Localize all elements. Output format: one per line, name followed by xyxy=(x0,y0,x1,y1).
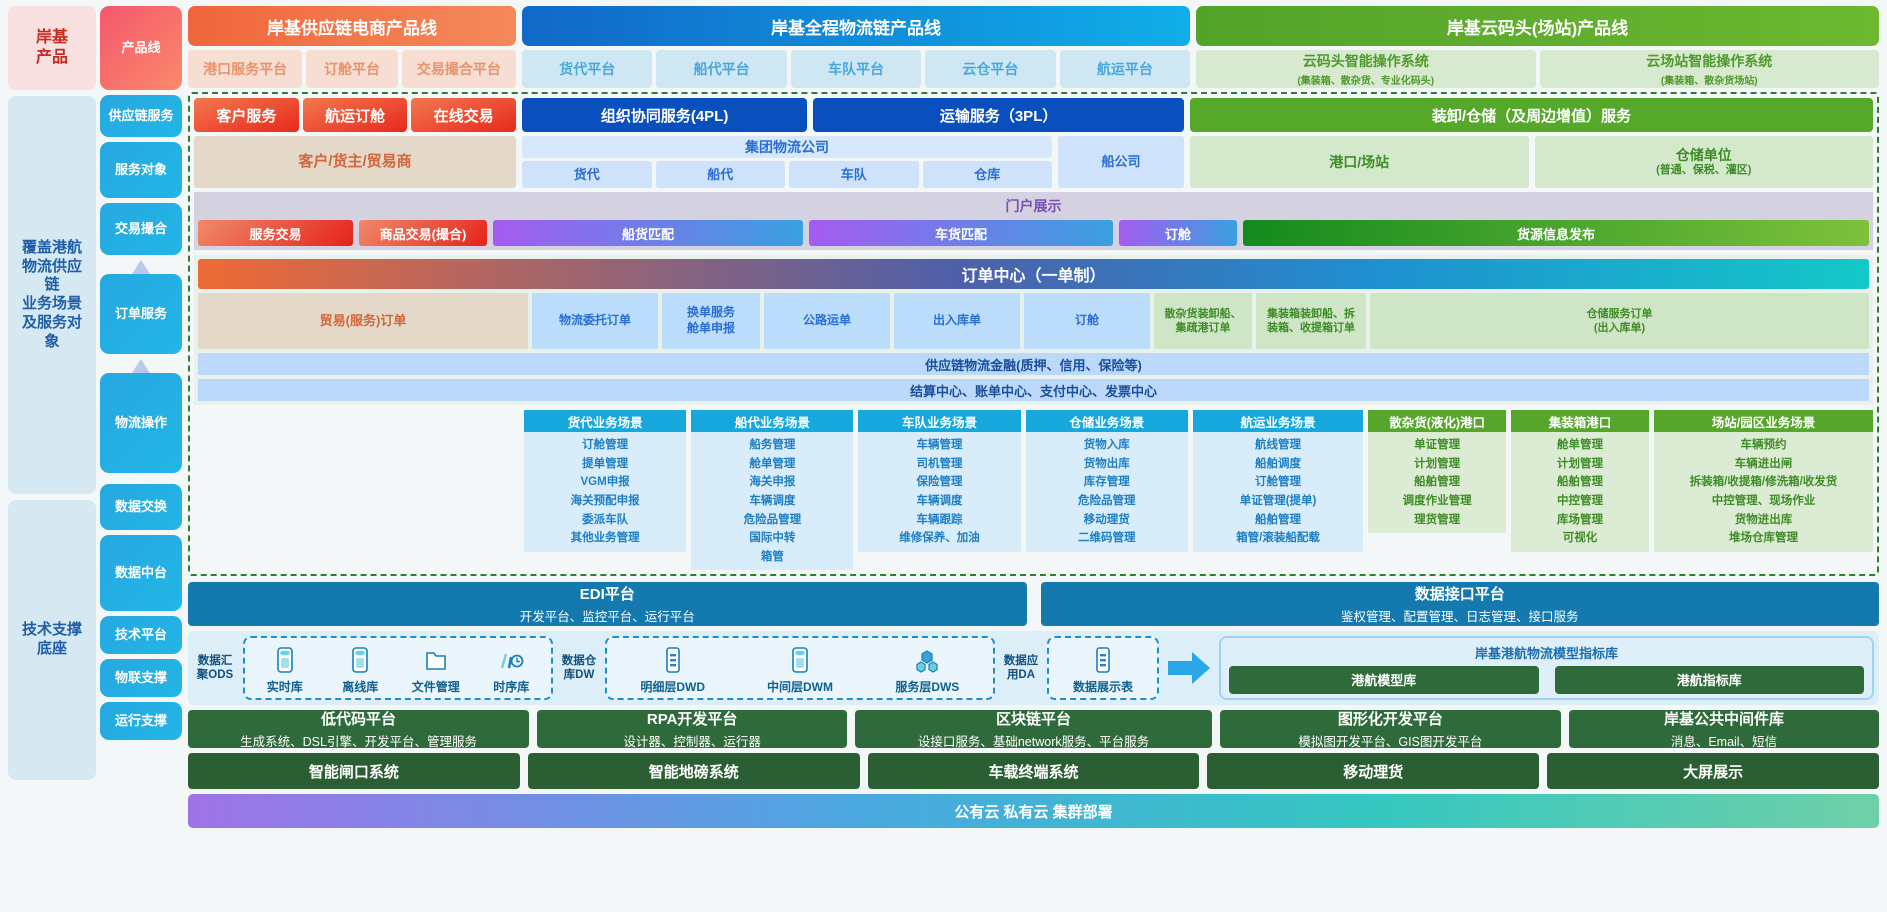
scenario-item: 船舶调度 xyxy=(1195,455,1361,474)
scenario-item: 单证管理 xyxy=(1370,436,1504,455)
platform-freight[interactable]: 货代平台 xyxy=(522,50,652,88)
supply-chain-service-row: 客户服务 航运订舱 在线交易 组织协同服务(4PL) 运输服务（3PL） 装卸/… xyxy=(194,98,1873,132)
platform-sub: 模拟图开发平台、GIS图开发平台 xyxy=(1298,731,1482,750)
label-text: 物流操作 xyxy=(115,415,167,431)
scenario-item: 单证管理(提单) xyxy=(1195,492,1361,511)
scenario-item: 移动理货 xyxy=(1028,511,1186,530)
platform-sub: 生成系统、DSL引擎、开发平台、管理服务 xyxy=(240,731,477,750)
scenario-item: 理货管理 xyxy=(1370,511,1504,530)
scenario-item: 船舶管理 xyxy=(1195,511,1361,530)
scenario-items: 舱单管理 计划管理 船舶管理 中控管理 库场管理 可视化 xyxy=(1511,432,1649,552)
label-text: 运行支撑 xyxy=(115,713,167,729)
scenario-container-port[interactable]: 集装箱港口 舱单管理 计划管理 船舶管理 中控管理 库场管理 可视化 xyxy=(1511,410,1649,570)
api-title: 数据接口平台 xyxy=(1415,583,1505,604)
label-text: 供应链服务 xyxy=(108,108,173,124)
label-text: 技术平台 xyxy=(115,627,167,643)
scenario-item: 车辆预约 xyxy=(1656,436,1871,455)
scenario-row: 货代业务场景 订舱管理 提单管理 VGM申报 海关预配申报 委派车队 其他业务管… xyxy=(194,410,1873,570)
spine-tech-label: 技术支撑 底座 xyxy=(8,500,96,780)
order-center-region: 订单中心（一单制） 贸易(服务)订单 物流委托订单 换单服务 舱单申报 公路运单… xyxy=(194,255,1873,405)
spine-coverage-label: 覆盖港航 物流供应 链 业务场景 及服务对 象 xyxy=(8,96,96,494)
api-platform[interactable]: 数据接口平台 鉴权管理、配置管理、日志管理、接口服务 xyxy=(1041,582,1880,626)
ods-label: 数据汇聚ODS xyxy=(193,636,237,700)
label-trade-matching: 交易撮合 xyxy=(100,203,182,255)
da-group: 数据展示表 xyxy=(1047,636,1159,700)
scenario-item: 调度作业管理 xyxy=(1370,492,1504,511)
scenario-item: 货物出库 xyxy=(1028,455,1186,474)
scenario-item: 海关申报 xyxy=(693,473,851,492)
system-cloud-terminal-sub: (集装箱、散杂货、专业化码头) xyxy=(1297,72,1434,87)
scenario-item: 车辆进出闸 xyxy=(1656,455,1871,474)
system-cloud-yard[interactable]: 云场站智能操作系统 (集装箱、散杂货场站) xyxy=(1540,50,1880,88)
label-text: 订单服务 xyxy=(115,306,167,322)
scenario-item: 货物入库 xyxy=(1028,436,1186,455)
edi-sub: 开发平台、监控平台、运行平台 xyxy=(520,606,695,625)
platform-title: RPA开发平台 xyxy=(647,708,738,729)
order-cell-row: 贸易(服务)订单 物流委托订单 换单服务 舱单申报 公路运单 出入库单 订舱 散… xyxy=(198,293,1869,349)
spine-product-text: 岸基 产品 xyxy=(36,28,68,68)
trade-truck-cargo-match-button[interactable]: 车货匹配 xyxy=(809,220,1113,246)
flow-arrow-icon xyxy=(132,260,150,274)
label-data-exchange: 数据交换 xyxy=(100,484,182,530)
scenario-item: VGM申报 xyxy=(526,473,684,492)
order-logistics-entrust: 物流委托订单 xyxy=(532,293,658,349)
order-road-waybill: 公路运单 xyxy=(764,293,890,349)
dw-service-layer[interactable]: 服务层DWS xyxy=(865,641,990,695)
spine-product-label: 岸基 产品 xyxy=(8,6,96,90)
service-4pl[interactable]: 组织协同服务(4PL) xyxy=(522,98,807,132)
scenario-item: 计划管理 xyxy=(1370,455,1504,474)
label-text: 产品线 xyxy=(121,40,160,56)
scenario-item: 船舶管理 xyxy=(1370,473,1504,492)
label-text: 服务对象 xyxy=(115,162,167,178)
scenario-item: 维修保养、加油 xyxy=(860,529,1018,548)
platform-title: 低代码平台 xyxy=(321,708,396,729)
index-library-button[interactable]: 港航指标库 xyxy=(1555,666,1865,694)
label-supply-chain-service: 供应链服务 xyxy=(100,95,182,137)
platform-booking[interactable]: 订舱平台 xyxy=(306,50,397,88)
label-text: 物联支撑 xyxy=(115,670,167,686)
platform-sub: 消息、Email、短信 xyxy=(1671,731,1777,750)
trade-cargo-info-publish-button[interactable]: 货源信息发布 xyxy=(1243,220,1869,246)
tech-platform-row: 低代码平台 生成系统、DSL引擎、开发平台、管理服务 RPA开发平台 设计器、控… xyxy=(188,710,1879,748)
label-tech-platform: 技术平台 xyxy=(100,616,182,654)
object-ship-agent: 船代 xyxy=(656,161,786,188)
ods-file-management[interactable]: 文件管理 xyxy=(399,641,473,695)
dw-label: 数据仓库DW xyxy=(559,636,599,700)
scenario-item: 航线管理 xyxy=(1195,436,1361,455)
ods-realtime-db[interactable]: 实时库 xyxy=(248,641,322,695)
platform-cloud-warehouse[interactable]: 云仓平台 xyxy=(925,50,1055,88)
scenario-item: 订舱管理 xyxy=(526,436,684,455)
order-center-title: 订单中心（一单制） xyxy=(198,259,1869,289)
middleware-platform[interactable]: 岸基公共中间件库 消息、Email、短信 xyxy=(1569,710,1879,748)
left-spine: 岸基 产品 覆盖港航 物流供应 链 业务场景 及服务对 象 技术支撑 底座 xyxy=(8,6,96,780)
business-scope-region: 客户服务 航运订舱 在线交易 组织协同服务(4PL) 运输服务（3PL） 装卸/… xyxy=(188,92,1879,576)
scenario-item: 中控管理 xyxy=(1513,492,1647,511)
label-text: 数据中台 xyxy=(115,565,167,581)
platform-ship-agent[interactable]: 船代平台 xyxy=(656,50,786,88)
object-warehouse: 仓库 xyxy=(923,161,1053,188)
spine-coverage-text: 覆盖港航 物流供应 链 业务场景 及服务对 象 xyxy=(22,239,82,352)
order-storage-service: 仓储服务订单 (出入库单) xyxy=(1370,293,1869,349)
service-handling-storage[interactable]: 装卸/仓储（及周边增值）服务 xyxy=(1190,98,1873,132)
iot-smart-gate[interactable]: 智能闸口系统 xyxy=(188,753,520,789)
product-line-logistics-title[interactable]: 岸基全程物流链产品线 xyxy=(522,6,1190,46)
settlement-center-band: 结算中心、账单中心、支付中心、发票中心 xyxy=(198,379,1869,401)
list-icon xyxy=(1093,646,1113,674)
scenario-shipping-agent[interactable]: 船代业务场景 船务管理 舱单管理 海关申报 车辆调度 危险品管理 国际中转 箱管 xyxy=(691,410,853,570)
rpa-platform[interactable]: RPA开发平台 设计器、控制器、运行器 xyxy=(537,710,847,748)
scenario-item: 海关预配申报 xyxy=(526,492,684,511)
dw-detail-layer[interactable]: 明细层DWD xyxy=(610,641,735,695)
service-customer[interactable]: 客户服务 xyxy=(194,98,299,132)
scenario-item: 箱管/滚装船配载 xyxy=(1195,529,1361,548)
model-library-title: 岸基港航物流模型指标库 xyxy=(1475,643,1618,662)
flow-arrow-icon xyxy=(132,359,150,373)
da-data-display-table[interactable]: 数据展示表 xyxy=(1052,641,1154,695)
cubes-icon xyxy=(914,648,940,674)
folder-icon xyxy=(424,648,448,674)
trade-booking-button[interactable]: 订舱 xyxy=(1119,220,1237,246)
dw-middle-layer[interactable]: 中间层DWM xyxy=(737,641,862,695)
scenario-shipping[interactable]: 航运业务场景 航线管理 船舶调度 订舱管理 单证管理(提单) 船舶管理 箱管/滚… xyxy=(1193,410,1363,570)
edi-title: EDI平台 xyxy=(580,583,635,604)
scenario-item: 车辆跟踪 xyxy=(860,511,1018,530)
api-sub: 鉴权管理、配置管理、日志管理、接口服务 xyxy=(1341,606,1579,625)
scenario-item: 危险品管理 xyxy=(693,511,851,530)
timeseries-icon xyxy=(498,648,524,674)
scenario-item: 中控管理、现场作业 xyxy=(1656,492,1871,511)
scenario-warehouse[interactable]: 仓储业务场景 货物入库 货物出库 库存管理 危险品管理 移动理货 二维码管理 xyxy=(1026,410,1188,570)
iot-row: 智能闸口系统 智能地磅系统 车载终端系统 移动理货 大屏展示 xyxy=(188,753,1879,789)
product-line-headers: 岸基供应链电商产品线 港口服务平台 订舱平台 交易撮合平台 岸基全程物流链产品线… xyxy=(188,6,1879,88)
object-fleet: 车队 xyxy=(789,161,919,188)
order-bulk-cargo: 散杂货装卸船、 集疏港订单 xyxy=(1154,293,1252,349)
scenario-item: 可视化 xyxy=(1513,529,1647,548)
scenario-item: 订舱管理 xyxy=(1195,473,1361,492)
edi-platform[interactable]: EDI平台 开发平台、监控平台、运行平台 xyxy=(188,582,1027,626)
database-icon xyxy=(275,646,295,674)
ods-timeseries-db[interactable]: 时序库 xyxy=(475,641,549,695)
label-logistics-operation: 物流操作 xyxy=(100,373,182,473)
iot-smart-scale[interactable]: 智能地磅系统 xyxy=(528,753,860,789)
trade-goods-button[interactable]: 商品交易(撮合) xyxy=(359,220,487,246)
service-object-row: 客户/货主/贸易商 集团物流公司 货代 船代 车队 仓库 xyxy=(194,136,1873,188)
scenario-items: 订舱管理 提单管理 VGM申报 海关预配申报 委派车队 其他业务管理 xyxy=(524,432,686,552)
portal-display-label: 门户展示 xyxy=(198,195,1869,217)
object-storage-unit-sub: (普通、保税、灌区) xyxy=(1656,164,1751,177)
runtime-deployment-bar: 公有云 私有云 集群部署 xyxy=(188,794,1879,828)
scenario-item: 堆场仓库管理 xyxy=(1656,529,1871,548)
label-text: 数据交换 xyxy=(115,499,167,515)
ods-offline-db[interactable]: 离线库 xyxy=(324,641,398,695)
platform-title: 岸基公共中间件库 xyxy=(1664,708,1784,729)
scenario-item: 舱单管理 xyxy=(693,455,851,474)
platform-shipping[interactable]: 航运平台 xyxy=(1060,50,1190,88)
blockchain-platform[interactable]: 区块链平台 设接口服务、基础network服务、平台服务 xyxy=(855,710,1212,748)
order-exchange-manifest: 换单服务 舱单申报 xyxy=(662,293,760,349)
scenario-item: 二维码管理 xyxy=(1028,529,1186,548)
scenario-item: 车辆调度 xyxy=(693,492,851,511)
scenario-title: 货代业务场景 xyxy=(524,410,686,432)
platform-trade-matching[interactable]: 交易撮合平台 xyxy=(402,50,516,88)
product-line-terminal-title[interactable]: 岸基云码头(场站)产品线 xyxy=(1196,6,1879,46)
arrow-right-icon xyxy=(1168,651,1210,685)
scenario-item: 国际中转 xyxy=(693,529,851,548)
scenario-title: 集装箱港口 xyxy=(1511,410,1649,432)
scenario-item: 委派车队 xyxy=(526,511,684,530)
scenario-item: 提单管理 xyxy=(526,455,684,474)
scenario-title: 场站/园区业务场景 xyxy=(1654,410,1873,432)
scenario-item: 危险品管理 xyxy=(1028,492,1186,511)
scenario-bulk-port[interactable]: 散杂货(液化)港口 单证管理 计划管理 船舶管理 调度作业管理 理货管理 xyxy=(1368,410,1506,570)
data-middle-platform: 数据汇聚ODS 实时库 离线库 xyxy=(188,631,1879,705)
label-runtime-support: 运行支撑 xyxy=(100,702,182,740)
scenario-item: 船务管理 xyxy=(693,436,851,455)
scenario-item: 司机管理 xyxy=(860,455,1018,474)
platform-sub: 设计器、控制器、运行器 xyxy=(623,731,761,750)
order-trade-service: 贸易(服务)订单 xyxy=(198,293,528,349)
trade-button-row: 服务交易 商品交易(撮合) 船货匹配 车货匹配 订舱 货源信息发布 xyxy=(198,220,1869,246)
iot-vehicle-terminal[interactable]: 车载终端系统 xyxy=(868,753,1200,789)
gis-platform[interactable]: 图形化开发平台 模拟图开发平台、GIS图开发平台 xyxy=(1220,710,1561,748)
iot-large-screen[interactable]: 大屏展示 xyxy=(1547,753,1879,789)
lowcode-platform[interactable]: 低代码平台 生成系统、DSL引擎、开发平台、管理服务 xyxy=(188,710,529,748)
order-inout-warehouse: 出入库单 xyxy=(894,293,1020,349)
scenario-item: 计划管理 xyxy=(1513,455,1647,474)
platform-port-service[interactable]: 港口服务平台 xyxy=(188,50,302,88)
service-3pl[interactable]: 运输服务（3PL） xyxy=(813,98,1184,132)
scenario-item: 舱单管理 xyxy=(1513,436,1647,455)
scenario-items: 车辆管理 司机管理 保险管理 车辆调度 车辆跟踪 维修保养、加油 xyxy=(858,432,1020,552)
system-cloud-yard-sub: (集装箱、散杂货场站) xyxy=(1661,72,1758,87)
scenario-item: 库场管理 xyxy=(1513,511,1647,530)
scenario-items: 船务管理 舱单管理 海关申报 车辆调度 危险品管理 国际中转 箱管 xyxy=(691,432,853,570)
scenario-item: 其他业务管理 xyxy=(526,529,684,548)
object-storage-unit: 仓储单位 (普通、保税、灌区) xyxy=(1535,136,1874,188)
product-line-ecommerce-title[interactable]: 岸基供应链电商产品线 xyxy=(188,6,516,46)
scenario-item: 船舶管理 xyxy=(1513,473,1647,492)
scenario-title: 散杂货(液化)港口 xyxy=(1368,410,1506,432)
scenario-title: 仓储业务场景 xyxy=(1026,410,1188,432)
object-port-yard: 港口/场站 xyxy=(1190,136,1529,188)
object-customer-shipper-trader: 客户/货主/贸易商 xyxy=(194,136,516,188)
scenario-item: 车辆调度 xyxy=(860,492,1018,511)
platform-fleet[interactable]: 车队平台 xyxy=(791,50,921,88)
scenario-item: 库存管理 xyxy=(1028,473,1186,492)
scenario-item: 保险管理 xyxy=(860,473,1018,492)
supply-chain-finance-band: 供应链物流金融(质押、信用、保险等) xyxy=(198,353,1869,375)
ods-group: 实时库 离线库 文件管理 xyxy=(243,636,553,700)
iot-mobile-tally[interactable]: 移动理货 xyxy=(1207,753,1539,789)
label-text: 交易撮合 xyxy=(115,221,167,237)
scenario-item: 货物进出库 xyxy=(1656,511,1871,530)
label-data-middle: 数据中台 xyxy=(100,535,182,611)
scenario-items: 货物入库 货物出库 库存管理 危险品管理 移动理货 二维码管理 xyxy=(1026,432,1188,552)
system-cloud-terminal[interactable]: 云码头智能操作系统 (集装箱、散杂货、专业化码头) xyxy=(1196,50,1536,88)
service-online-trade[interactable]: 在线交易 xyxy=(411,98,516,132)
dw-group: 明细层DWD 中间层DWM 服务层DWS xyxy=(605,636,995,700)
spine-tech-text: 技术支撑 底座 xyxy=(22,621,82,659)
trade-ship-cargo-match-button[interactable]: 船货匹配 xyxy=(493,220,803,246)
service-shipping-booking[interactable]: 航运订舱 xyxy=(303,98,408,132)
order-container: 集装箱装卸船、拆 装箱、收提箱订单 xyxy=(1256,293,1366,349)
da-label: 数据应用DA xyxy=(1001,636,1041,700)
label-product-line: 产品线 xyxy=(100,6,182,90)
object-freight-forwarder: 货代 xyxy=(522,161,652,188)
scenario-title: 车队业务场景 xyxy=(858,410,1020,432)
model-library-button[interactable]: 港航模型库 xyxy=(1229,666,1539,694)
platform-sub: 设接口服务、基础network服务、平台服务 xyxy=(918,731,1149,750)
scenario-item: 车辆管理 xyxy=(860,436,1018,455)
label-service-object: 服务对象 xyxy=(100,142,182,198)
label-order-service: 订单服务 xyxy=(100,274,182,354)
platform-title: 图形化开发平台 xyxy=(1338,708,1443,729)
order-booking: 订舱 xyxy=(1024,293,1150,349)
scenario-title: 船代业务场景 xyxy=(691,410,853,432)
database-icon xyxy=(350,646,370,674)
scenario-item: 拆装箱/收提箱/修洗箱/收发货 xyxy=(1656,473,1871,492)
trade-service-button[interactable]: 服务交易 xyxy=(198,220,353,246)
object-group-logistics-company: 集团物流公司 xyxy=(522,136,1052,158)
scenario-yard-park[interactable]: 场站/园区业务场景 车辆预约 车辆进出闸 拆装箱/收提箱/修洗箱/收发货 中控管… xyxy=(1654,410,1873,570)
scenario-items: 航线管理 船舶调度 订舱管理 单证管理(提单) 船舶管理 箱管/滚装船配载 xyxy=(1193,432,1363,552)
scenario-title: 航运业务场景 xyxy=(1193,410,1363,432)
row-label-column: 产品线 供应链服务 服务对象 交易撮合 订单服务 物流操作 数据交换 数据中台 … xyxy=(100,6,182,745)
label-iot-support: 物联支撑 xyxy=(100,659,182,697)
scenario-item: 箱管 xyxy=(693,548,851,567)
layers-icon xyxy=(663,646,683,674)
scenario-items: 单证管理 计划管理 船舶管理 调度作业管理 理货管理 xyxy=(1368,432,1506,533)
scenario-freight[interactable]: 货代业务场景 订舱管理 提单管理 VGM申报 海关预配申报 委派车队 其他业务管… xyxy=(524,410,686,570)
model-index-library: 岸基港航物流模型指标库 港航模型库 港航指标库 xyxy=(1219,636,1874,700)
object-shipping-company: 船公司 xyxy=(1058,136,1184,188)
platform-title: 区块链平台 xyxy=(996,708,1071,729)
scenario-items: 车辆预约 车辆进出闸 拆装箱/收提箱/修洗箱/收发货 中控管理、现场作业 货物进… xyxy=(1654,432,1873,552)
data-exchange-row: EDI平台 开发平台、监控平台、运行平台 数据接口平台 鉴权管理、配置管理、日志… xyxy=(188,582,1879,626)
trade-matching-region: 门户展示 服务交易 商品交易(撮合) 船货匹配 车货匹配 订舱 货源信息发布 xyxy=(194,192,1873,250)
scenario-fleet[interactable]: 车队业务场景 车辆管理 司机管理 保险管理 车辆调度 车辆跟踪 维修保养、加油 xyxy=(858,410,1020,570)
flow-arrow-right xyxy=(1165,636,1213,700)
database-icon xyxy=(790,646,810,674)
